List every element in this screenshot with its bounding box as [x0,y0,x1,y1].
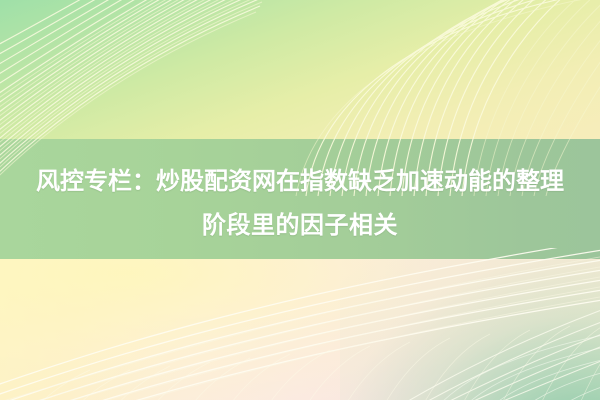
article-title-banner: 风控专栏：炒股配资网在指数缺乏加速动能的整理 阶段里的因子相关 [0,0,600,400]
background-band-top [0,0,600,139]
headline-line-1: 风控专栏：炒股配资网在指数缺乏加速动能的整理 [0,160,600,204]
banner-headline: 风控专栏：炒股配资网在指数缺乏加速动能的整理 阶段里的因子相关 [0,160,600,248]
background-band-bottom [0,259,600,400]
headline-line-2: 阶段里的因子相关 [0,204,600,248]
